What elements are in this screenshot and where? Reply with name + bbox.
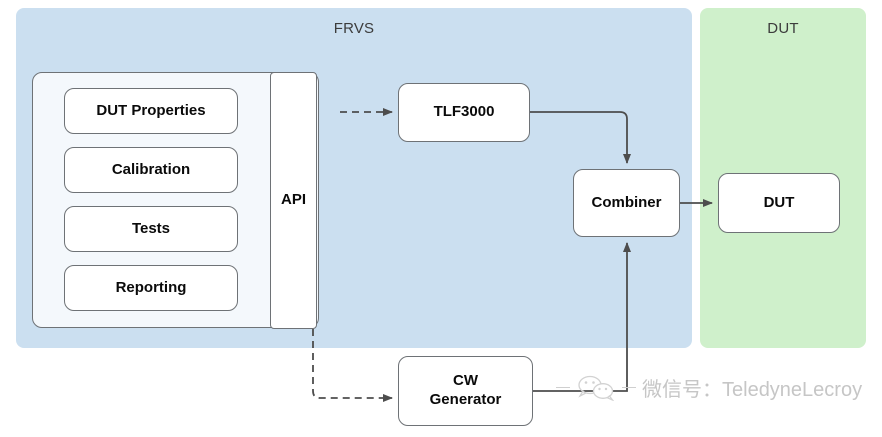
node-label: DUT <box>764 194 795 213</box>
node-reporting[interactable]: Reporting <box>64 265 238 311</box>
node-label: TLF3000 <box>434 103 495 122</box>
node-label: API <box>281 191 306 210</box>
group-label-dut: DUT <box>700 20 866 37</box>
node-api[interactable]: API <box>270 72 317 329</box>
node-combiner[interactable]: Combiner <box>573 169 680 237</box>
watermark-text: 微信号：TeledyneLecroy <box>642 373 862 402</box>
node-tlf3000[interactable]: TLF3000 <box>398 83 530 142</box>
node-calibration[interactable]: Calibration <box>64 147 238 193</box>
node-label: DUT Properties <box>96 102 205 121</box>
node-tests[interactable]: Tests <box>64 206 238 252</box>
node-label: Tests <box>132 220 170 239</box>
node-label-line2: Generator <box>430 391 502 408</box>
watermark-dash-right <box>622 387 636 389</box>
node-label-line1: CW <box>453 372 478 389</box>
node-dut[interactable]: DUT <box>718 173 840 233</box>
group-label-frvs: FRVS <box>16 20 692 37</box>
node-cw-generator[interactable]: CW Generator <box>398 356 533 426</box>
node-label: Reporting <box>116 279 187 298</box>
wechat-icon <box>576 375 616 401</box>
watermark-dash-left <box>556 387 570 389</box>
node-label-wrapper: CW Generator <box>430 372 502 410</box>
diagram-canvas: FRVS DUT DUT Properties Calibration Test… <box>0 0 882 437</box>
node-label: Combiner <box>591 194 661 213</box>
node-dut-properties[interactable]: DUT Properties <box>64 88 238 134</box>
watermark: 微信号：TeledyneLecroy <box>556 373 862 402</box>
node-label: Calibration <box>112 161 190 180</box>
